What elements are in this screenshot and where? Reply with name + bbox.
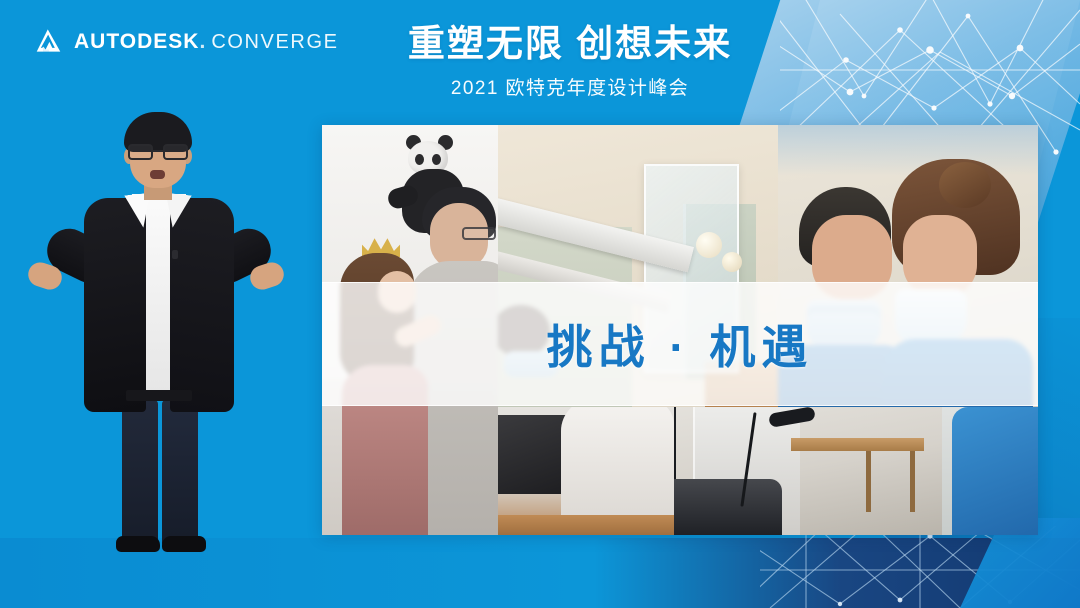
event-title: 重塑无限 创想未来	[60, 22, 1080, 66]
panel-desk-worker	[498, 407, 674, 535]
presenter-figure	[22, 112, 290, 548]
event-subtitle: 2021 欧特克年度设计峰会	[60, 73, 1080, 100]
headline-band: 挑战 · 机遇	[322, 282, 1038, 406]
glasses-icon	[128, 144, 188, 161]
slide-stage: AUTODESK . CONVERGE 重塑无限 创想未来 2021 欧特克年度…	[0, 0, 1080, 608]
panel-scrubs	[942, 407, 1038, 535]
event-title-block: 重塑无限 创想未来 2021 欧特克年度设计峰会	[0, 22, 1080, 100]
headline-text: 挑战 · 机遇	[547, 311, 814, 377]
